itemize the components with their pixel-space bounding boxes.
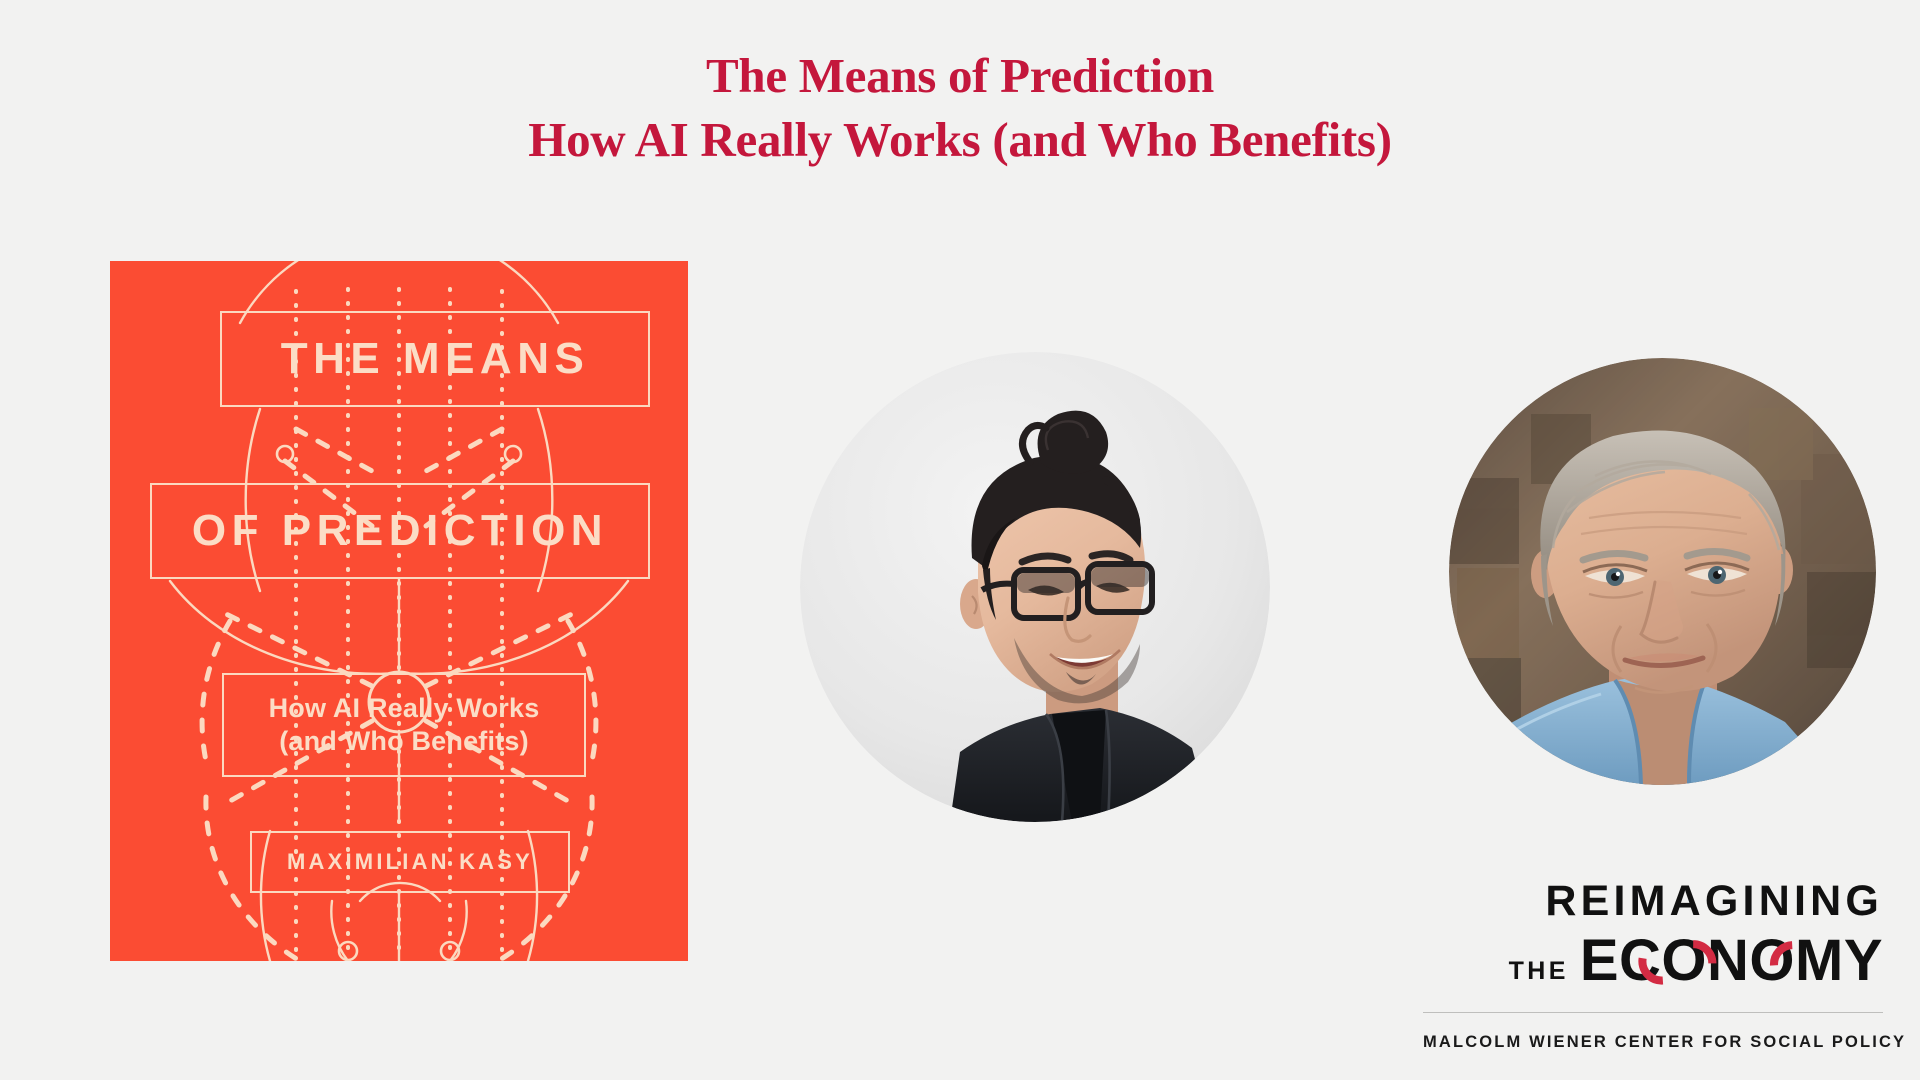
logo-word-the: THE bbox=[1509, 959, 1569, 984]
portrait-left-illustration bbox=[800, 352, 1270, 822]
logo-line-reimagining: REIMAGINING bbox=[1423, 880, 1883, 923]
book-subtitle: How AI Really Works (and Who Benefits) bbox=[269, 692, 540, 758]
book-author-name: MAXIMILIAN KASY bbox=[287, 849, 533, 875]
book-cover-image: THE MEANS OF PREDICTION How AI Really Wo… bbox=[110, 261, 688, 961]
title-line-1: The Means of Prediction bbox=[0, 48, 1920, 104]
book-title-box-2: OF PREDICTION bbox=[150, 483, 650, 579]
page-title: The Means of Prediction How AI Really Wo… bbox=[0, 48, 1920, 168]
logo-word-economy-wrap: ECONOMY bbox=[1580, 932, 1883, 990]
logo-center-name: MALCOLM WIENER CENTER FOR SOCIAL POLICY bbox=[1423, 1033, 1883, 1052]
logo-line-the-economy: THE ECONOMY bbox=[1423, 932, 1883, 990]
title-line-2: How AI Really Works (and Who Benefits) bbox=[0, 112, 1920, 168]
book-subtitle-line-2: (and Who Benefits) bbox=[279, 726, 529, 756]
logo-divider bbox=[1423, 1012, 1883, 1013]
speaker-portrait-right bbox=[1449, 358, 1876, 785]
book-subtitle-box: How AI Really Works (and Who Benefits) bbox=[222, 673, 586, 777]
book-subtitle-line-1: How AI Really Works bbox=[269, 693, 540, 723]
book-title-line-2: OF PREDICTION bbox=[192, 506, 608, 556]
reimagining-the-economy-logo: REIMAGINING THE ECONOMY MALCOLM WIENER C… bbox=[1423, 880, 1883, 1052]
book-author-box: MAXIMILIAN KASY bbox=[250, 831, 570, 893]
presentation-slide: The Means of Prediction How AI Really Wo… bbox=[0, 0, 1920, 1080]
book-title-box-1: THE MEANS bbox=[220, 311, 650, 407]
logo-word-economy: ECONOMY bbox=[1580, 928, 1883, 993]
speaker-portrait-left bbox=[800, 352, 1270, 822]
book-title-line-1: THE MEANS bbox=[281, 334, 590, 384]
portrait-right-illustration bbox=[1449, 358, 1876, 785]
